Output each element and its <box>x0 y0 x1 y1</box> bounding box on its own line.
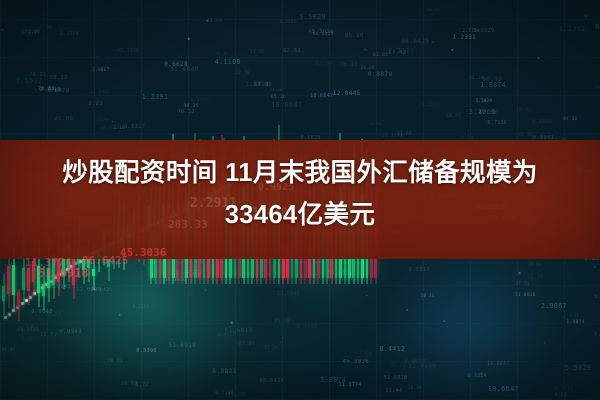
candle-body <box>27 268 30 291</box>
candle-body <box>2 286 5 301</box>
candle-body <box>12 265 15 295</box>
news-thumbnail: 98.25▪▪0.66280.33985.502945.303618.66470… <box>0 0 600 400</box>
burned-numeral: 86.6425 <box>82 254 128 267</box>
candle-body <box>42 284 45 296</box>
headline-text: 炒股配资时间 11月末我国外汇储备规模为33464亿美元 <box>30 152 570 236</box>
candle-body <box>17 292 20 307</box>
candle-body <box>22 268 25 290</box>
burned-numeral: 51.6918 <box>38 266 89 280</box>
candle-body <box>7 266 10 294</box>
candle-body <box>92 269 95 277</box>
